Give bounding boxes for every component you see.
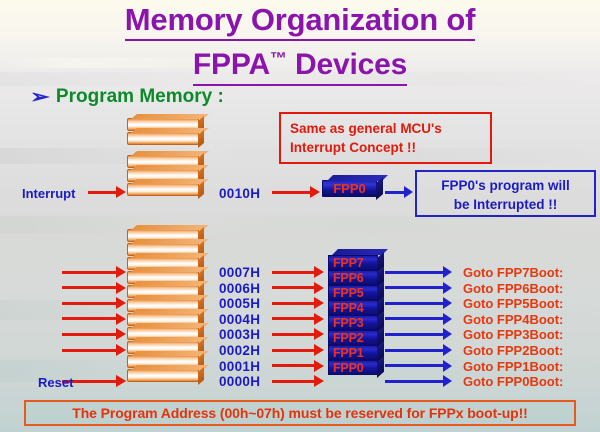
fpp0-interrupt-label: FPP0 [333, 181, 366, 196]
goto-boot-label: Goto FPP1Boot: [463, 359, 563, 374]
fpp-to-goto-arrow-icon [385, 348, 452, 352]
address-to-fpp-arrow-icon [272, 379, 324, 383]
address-label: 0005H [219, 296, 260, 311]
goto-boot-label: Goto FPP2Boot: [463, 343, 563, 358]
goto-boot-label: Goto FPP7Boot: [463, 265, 563, 280]
address-left-arrow-icon [62, 301, 126, 305]
address-label: 0002H [219, 343, 260, 358]
fpp-block[interactable]: FPP0 [328, 360, 378, 375]
address-label: 0000H [219, 374, 260, 389]
fpp-to-goto-arrow-icon [385, 301, 452, 305]
bottom-note-text: The Program Address (00h~07h) must be re… [72, 405, 527, 421]
address-label: 0004H [219, 312, 260, 327]
fpp-block-label: FPP5 [333, 286, 363, 300]
goto-boot-label: Goto FPP4Boot: [463, 312, 563, 327]
interrupt-label: Interrupt [22, 186, 75, 201]
callout-blue-line-2: be Interrupted !! [417, 195, 594, 214]
reset-label: Reset [38, 375, 73, 390]
trademark-icon: ™ [270, 49, 287, 68]
fpp-block-label: FPP6 [333, 271, 363, 285]
program-memory-heading: ➢ Program Memory : [32, 86, 224, 108]
fpp-to-goto-arrow-icon [385, 270, 452, 274]
fpp-block-label: FPP4 [333, 301, 363, 315]
address-label: 0006H [219, 281, 260, 296]
fpp-block-label: FPP0 [333, 361, 363, 375]
interrupt-to-fpp0-arrow-icon [272, 190, 320, 194]
memory-block-group-top [127, 118, 199, 146]
interrupt-arrow-icon [88, 190, 126, 194]
arrow-bullet-icon: ➢ [30, 88, 50, 107]
fpp-block[interactable]: FPP2 [328, 330, 378, 345]
fpp-block-stack: FPP7FPP6FPP5FPP4FPP3FPP2FPP1FPP0 [328, 255, 378, 375]
address-to-fpp-arrow-icon [272, 332, 324, 336]
title-devices: Devices [287, 48, 407, 81]
goto-boot-label: Goto FPP3Boot: [463, 327, 563, 342]
memory-block [127, 369, 199, 382]
fpp0-to-bluebox-arrow-icon [385, 190, 413, 194]
fpp-block[interactable]: FPP4 [328, 300, 378, 315]
address-left-arrow-icon [62, 286, 126, 290]
program-memory-label: Program Memory : [56, 86, 224, 108]
fpp-block[interactable]: FPP6 [328, 270, 378, 285]
address-to-fpp-arrow-icon [272, 364, 324, 368]
bottom-note-banner: The Program Address (00h~07h) must be re… [24, 400, 576, 426]
fpp-block-label: FPP2 [333, 331, 363, 345]
callout-red-line-1: Same as general MCU's [290, 119, 490, 138]
address-to-fpp-arrow-icon [272, 317, 324, 321]
memory-block [127, 132, 199, 145]
callout-red-line-2: Interrupt Concept !! [290, 138, 490, 157]
callout-blue-box: FPP0's program will be Interrupted !! [415, 170, 596, 217]
goto-boot-label: Goto FPP0Boot: [463, 374, 563, 389]
background-band [0, 216, 600, 234]
fpp-block-label: FPP7 [333, 256, 363, 270]
slide-canvas: Memory Organization of FPPA™ Devices ➢ P… [0, 0, 600, 432]
reset-arrow-icon [90, 379, 126, 383]
address-label: 0007H [219, 265, 260, 280]
memory-block [127, 183, 199, 196]
slide-title: Memory Organization of FPPA™ Devices [0, 2, 600, 86]
fpp-to-goto-arrow-icon [385, 379, 452, 383]
title-line-1: Memory Organization of [125, 2, 475, 41]
address-to-fpp-arrow-icon [272, 301, 324, 305]
address-to-fpp-arrow-icon [272, 270, 324, 274]
goto-boot-label: Goto FPP5Boot: [463, 296, 563, 311]
goto-boot-label: Goto FPP6Boot: [463, 281, 563, 296]
callout-red-box: Same as general MCU's Interrupt Concept … [279, 112, 492, 164]
address-left-arrow-icon [62, 317, 126, 321]
address-left-arrow-icon [62, 348, 126, 352]
address-label: 0001H [219, 359, 260, 374]
address-label: 0003H [219, 327, 260, 342]
fpp-to-goto-arrow-icon [385, 364, 452, 368]
fpp-to-goto-arrow-icon [385, 286, 452, 290]
fpp-block[interactable]: FPP1 [328, 345, 378, 360]
fpp-block[interactable]: FPP7 [328, 255, 378, 270]
memory-block-group-middle [127, 155, 199, 197]
address-left-arrow-icon [62, 270, 126, 274]
title-fppa: FPPA [193, 48, 270, 81]
fpp0-interrupt-block[interactable]: FPP0 [322, 180, 377, 197]
fpp-block[interactable]: FPP3 [328, 315, 378, 330]
callout-blue-line-1: FPP0's program will [417, 176, 594, 195]
fpp-block[interactable]: FPP5 [328, 285, 378, 300]
address-to-fpp-arrow-icon [272, 348, 324, 352]
fpp-to-goto-arrow-icon [385, 317, 452, 321]
title-line-2: FPPA™ Devices [193, 41, 407, 86]
memory-block-group-bottom [127, 229, 199, 383]
fpp-to-goto-arrow-icon [385, 332, 452, 336]
interrupt-address-label: 0010H [219, 186, 260, 201]
fpp-block-label: FPP1 [333, 346, 363, 360]
fpp-block-label: FPP3 [333, 316, 363, 330]
address-left-arrow-icon [62, 332, 126, 336]
address-to-fpp-arrow-icon [272, 286, 324, 290]
